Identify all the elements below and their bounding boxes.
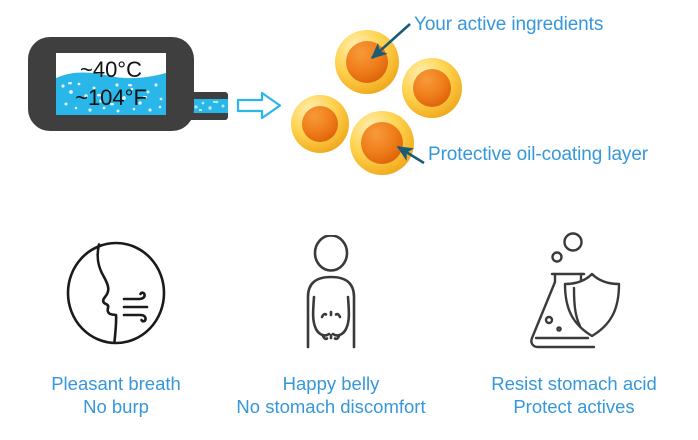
benefit-item-happy-belly: Happy belly No stomach discomfort [215,228,447,418]
benefit-icon-wrapper [278,228,384,358]
caption-line: Pleasant breath [51,372,181,395]
benefit-item-pleasant-breath: Pleasant breath No burp [0,228,232,418]
benefit-icon-wrapper [522,228,626,358]
flask-shield-icon [522,230,626,356]
thermometer-fahrenheit-text: ~104°F [75,85,147,110]
benefit-caption: Resist stomach acid Protect actives [491,372,657,418]
annotation-label-oil-coating: Protective oil-coating layer [428,144,648,166]
breathing-face-icon [60,237,172,349]
flow-arrow-icon [238,93,280,118]
caption-line: Happy belly [236,372,425,395]
benefit-caption: Happy belly No stomach discomfort [236,372,425,418]
particle [335,30,399,94]
caption-line: No burp [51,395,181,418]
particle [291,95,349,153]
caption-line: Resist stomach acid [491,372,657,395]
particle [350,111,414,175]
infographic-canvas: ~40°C ~104°F [0,0,698,440]
benefit-caption: Pleasant breath No burp [51,372,181,418]
particle [402,58,462,118]
benefit-item-resist-acid: Resist stomach acid Protect actives [458,228,690,418]
annotation-label-active-ingredients: Your active ingredients [414,14,603,36]
caption-line: No stomach discomfort [236,395,425,418]
thermometer-body: ~40°C ~104°F [28,37,194,131]
person-holding-belly-icon [278,235,384,351]
caption-line: Protect actives [491,395,657,418]
benefit-icon-wrapper [60,228,172,358]
thermometer-celsius-text: ~40°C [80,57,142,82]
